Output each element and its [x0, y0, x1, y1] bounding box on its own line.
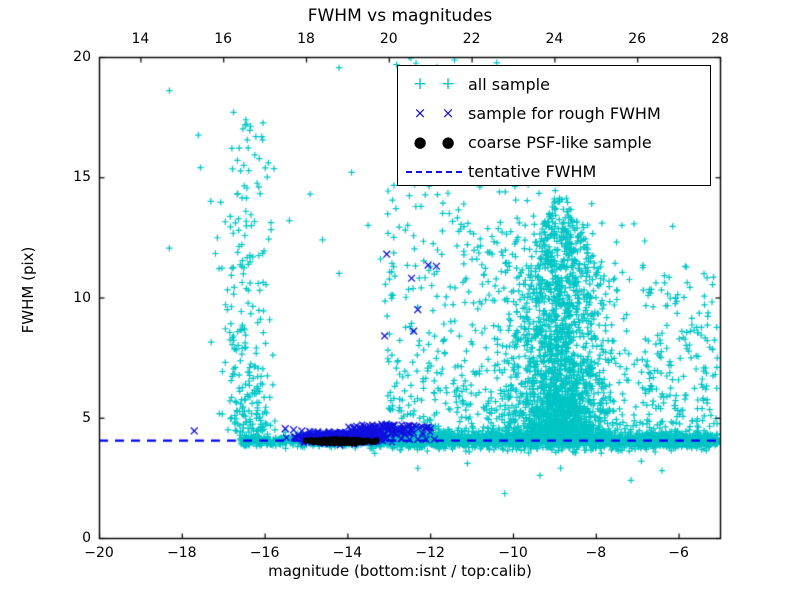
- y-axis-label: FWHM (pix): [19, 200, 37, 380]
- legend-item-all-sample: ++ all sample: [398, 70, 710, 99]
- chart-title: FWHM vs magnitudes: [0, 6, 800, 26]
- x-tick-bottom-1: −18: [167, 545, 197, 561]
- x-tick-bottom-5: −10: [498, 545, 528, 561]
- legend-marker-dashed-line-icon: [406, 171, 462, 173]
- y-tick-3: 15: [51, 169, 91, 185]
- legend: ++ all sample ×× sample for rough FWHM ●…: [397, 65, 711, 186]
- x-tick-top-4: 22: [463, 31, 481, 47]
- legend-marker-plus-icon: ++: [406, 76, 462, 93]
- figure-container: FWHM vs magnitudes magnitude (bottom:isn…: [0, 0, 800, 600]
- x-tick-top-7: 28: [711, 31, 729, 47]
- x-tick-top-6: 26: [628, 31, 646, 47]
- legend-label-rough-fwhm: sample for rough FWHM: [462, 104, 661, 123]
- x-tick-bottom-6: −8: [585, 545, 606, 561]
- x-axis-label: magnitude (bottom:isnt / top:calib): [0, 562, 800, 580]
- y-tick-0: 0: [51, 530, 91, 546]
- x-tick-top-1: 16: [214, 31, 232, 47]
- legend-item-tentative-fwhm: tentative FWHM: [398, 157, 710, 186]
- y-tick-1: 5: [51, 410, 91, 426]
- legend-item-rough-fwhm: ×× sample for rough FWHM: [398, 99, 710, 128]
- legend-label-tentative-fwhm: tentative FWHM: [462, 162, 596, 181]
- x-tick-bottom-2: −16: [250, 545, 280, 561]
- x-tick-top-5: 24: [545, 31, 563, 47]
- legend-marker-cross-icon: ××: [406, 106, 462, 121]
- x-tick-bottom-3: −14: [333, 545, 363, 561]
- legend-item-psf-like: ●● coarse PSF-like sample: [398, 128, 710, 157]
- x-tick-bottom-7: −6: [668, 545, 689, 561]
- x-tick-top-0: 14: [131, 31, 149, 47]
- legend-marker-dot-icon: ●●: [406, 135, 462, 150]
- y-tick-2: 10: [51, 290, 91, 306]
- x-tick-bottom-4: −12: [415, 545, 445, 561]
- x-tick-top-3: 20: [380, 31, 398, 47]
- x-tick-bottom-0: −20: [84, 545, 114, 561]
- legend-label-psf-like: coarse PSF-like sample: [462, 133, 652, 152]
- y-tick-4: 20: [51, 49, 91, 65]
- legend-label-all-sample: all sample: [462, 75, 550, 94]
- x-tick-top-2: 18: [297, 31, 315, 47]
